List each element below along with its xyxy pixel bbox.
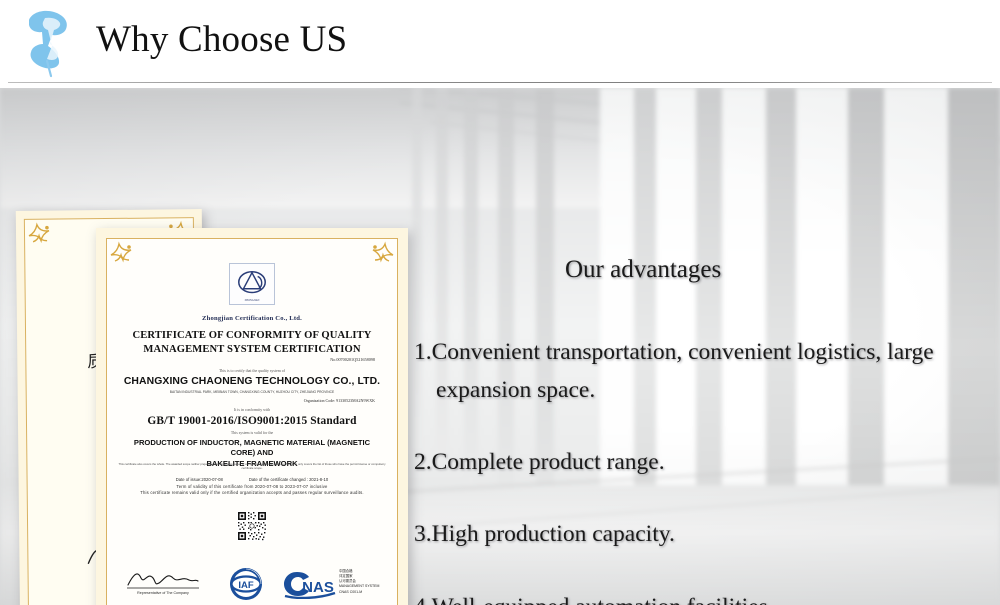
certificate-conformity-line: It is in conformity with bbox=[107, 408, 397, 412]
header-divider bbox=[8, 82, 992, 83]
cnas-en-line2: CNAS C001-M bbox=[339, 590, 379, 595]
advantages-title: Our advantages bbox=[565, 256, 721, 284]
qr-code-icon bbox=[237, 511, 267, 541]
page-header: Why Choose US bbox=[0, 0, 1000, 83]
corner-ornament-icon bbox=[109, 241, 139, 271]
advantage-2-text: Complete product range. bbox=[432, 449, 665, 475]
certificate-date-changed: Date of the certificate changed : 2021-8… bbox=[249, 477, 328, 482]
certificate-date-of-issue: Date of issue:2020-07-08 bbox=[176, 477, 223, 484]
advantage-3-number: 3. bbox=[414, 521, 432, 547]
certificate-surveillance-note: This certificate remains valid only if t… bbox=[117, 490, 387, 497]
banner-image: 质量 本证书可在网站查询 公司代表 长兴 超能 bbox=[0, 88, 1000, 605]
certificate-certify-line: This is to certify that the quality syst… bbox=[107, 369, 397, 373]
advantage-3-text: High production capacity. bbox=[432, 521, 675, 547]
advantages-section: Our advantages 1.Convenient transportati… bbox=[410, 188, 995, 605]
certificate-scope-note: This certificate also covers the whole. … bbox=[117, 463, 387, 471]
certificate-issuer: Zhongjian Certification Co., Ltd. bbox=[107, 315, 397, 322]
certificate-representative-label: Representative of The Company bbox=[115, 591, 211, 595]
advantage-1-text: Convenient transportation, convenient lo… bbox=[432, 339, 934, 365]
advantage-4-text: Well-equipped automation facilities. bbox=[432, 594, 774, 605]
advantage-1-number: 1. bbox=[414, 339, 432, 365]
signature-icon bbox=[125, 569, 201, 591]
certification-body-logo-caption: ZHONGJIAN bbox=[230, 299, 274, 302]
pushpin-icon bbox=[12, 6, 86, 78]
cnas-logo-icon: NAS bbox=[283, 569, 337, 599]
why-choose-us-banner: Why Choose US bbox=[0, 0, 1000, 605]
certificate-company-address: BAITAN INDUSTRIAL PARK, MEIBIAN TOWN, CH… bbox=[107, 390, 397, 394]
advantage-item-3: 3.High production capacity. bbox=[414, 515, 675, 553]
certificate-heading-line1: CERTIFICATE OF CONFORMITY OF QUALITY bbox=[107, 329, 397, 343]
advantage-1-continuation: expansion space. bbox=[436, 371, 934, 409]
page-title: Why Choose US bbox=[96, 18, 347, 61]
certificate-number: No.00700201Q521658098 bbox=[330, 357, 375, 362]
certificate-english: ZHONGJIAN Zhongjian Certification Co., L… bbox=[96, 228, 408, 605]
corner-ornament-icon bbox=[27, 222, 57, 252]
certificate-company-name: CHANGXING CHAONENG TECHNOLOGY CO., LTD. bbox=[107, 376, 397, 387]
certificate-standard: GB/T 19001-2016/ISO9001:2015 Standard bbox=[107, 415, 397, 427]
cnas-en-line1: MANAGEMENT SYSTEM bbox=[339, 584, 379, 589]
svg-text:NAS: NAS bbox=[302, 579, 334, 596]
certificate-heading: CERTIFICATE OF CONFORMITY OF QUALITY MAN… bbox=[107, 329, 397, 356]
corner-ornament-icon bbox=[31, 598, 61, 605]
svg-text:IAF: IAF bbox=[238, 580, 254, 591]
certificate-organization-code: Organization Code: 91330523MA2N9WXK bbox=[304, 398, 375, 403]
advantage-2-number: 2. bbox=[414, 449, 432, 475]
certificate-heading-line2: MANAGEMENT SYSTEM CERTIFICATION bbox=[107, 343, 397, 357]
certificate-dates: Date of issue:2020-07-08Date of the cert… bbox=[117, 477, 387, 497]
certificate-valid-line: This system is valid for the bbox=[107, 431, 397, 435]
corner-ornament-icon bbox=[365, 241, 395, 271]
advantage-4-number: 4. bbox=[414, 594, 432, 605]
advantage-item-1: 1.Convenient transportation, convenient … bbox=[414, 333, 934, 409]
iaf-logo-icon: IAF bbox=[217, 567, 275, 601]
advantage-item-4: 4.Well-equipped automation facilities. bbox=[414, 588, 774, 605]
certification-body-logo-icon: ZHONGJIAN bbox=[229, 263, 275, 305]
cnas-accreditation-text: 中国合格 评定国家 认可委员会 MANAGEMENT SYSTEM CNAS C… bbox=[339, 569, 379, 595]
advantage-item-2: 2.Complete product range. bbox=[414, 443, 665, 481]
certificate-scope-line1: PRODUCTION OF INDUCTOR, MAGNETIC MATERIA… bbox=[121, 438, 383, 459]
